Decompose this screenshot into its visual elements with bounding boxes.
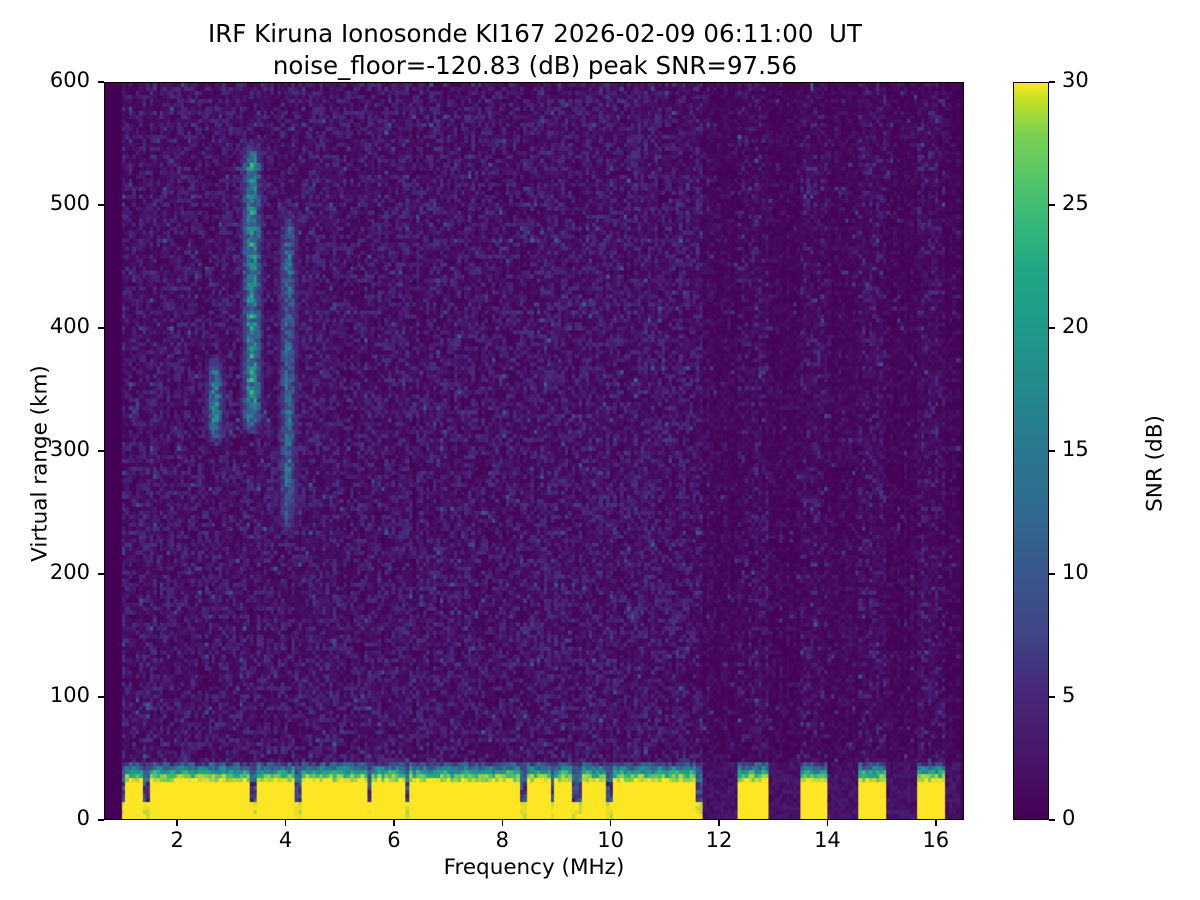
y-tick-label: 500: [0, 191, 90, 215]
y-tick-label: 600: [0, 68, 90, 92]
colorbar-tick-mark: [1049, 696, 1055, 697]
x-tick-mark: [176, 820, 177, 826]
figure-title: IRF Kiruna Ionosonde KI167 2026-02-09 06…: [0, 18, 1070, 82]
colorbar-tick-label: 25: [1062, 191, 1089, 215]
y-tick-mark: [98, 81, 104, 82]
colorbar-tick-label: 15: [1062, 437, 1089, 461]
y-tick-label: 300: [0, 437, 90, 461]
x-tick-mark: [827, 820, 828, 826]
x-tick-label: 6: [354, 828, 434, 852]
colorbar-tick-mark: [1049, 573, 1055, 574]
x-axis-label: Frequency (MHz): [104, 855, 964, 880]
x-tick-mark: [935, 820, 936, 826]
colorbar-tick-label: 30: [1062, 68, 1089, 92]
x-tick-label: 16: [896, 828, 976, 852]
colorbar-tick-label: 20: [1062, 314, 1089, 338]
x-tick-mark: [285, 820, 286, 826]
y-tick-label: 100: [0, 683, 90, 707]
colorbar-tick-mark: [1049, 81, 1055, 82]
ionogram-figure: IRF Kiruna Ionosonde KI167 2026-02-09 06…: [0, 0, 1200, 900]
colorbar-tick-label: 0: [1062, 806, 1075, 830]
x-tick-mark: [502, 820, 503, 826]
ionogram-heatmap: [105, 83, 963, 819]
y-tick-mark: [98, 327, 104, 328]
y-tick-label: 400: [0, 314, 90, 338]
title-line-2: noise_floor=-120.83 (dB) peak SNR=97.56: [0, 50, 1070, 82]
x-tick-label: 8: [462, 828, 542, 852]
y-tick-label: 0: [0, 806, 90, 830]
colorbar-gradient: [1013, 82, 1049, 820]
x-tick-mark: [393, 820, 394, 826]
y-tick-mark: [98, 204, 104, 205]
x-tick-mark: [718, 820, 719, 826]
y-tick-mark: [98, 450, 104, 451]
x-tick-label: 12: [679, 828, 759, 852]
plot-area: [104, 82, 964, 820]
x-tick-label: 14: [787, 828, 867, 852]
colorbar-tick-mark: [1049, 819, 1055, 820]
y-tick-label: 200: [0, 560, 90, 584]
x-tick-label: 2: [137, 828, 217, 852]
x-tick-label: 10: [571, 828, 651, 852]
colorbar-tick-mark: [1049, 450, 1055, 451]
colorbar-tick-label: 10: [1062, 560, 1089, 584]
y-tick-mark: [98, 573, 104, 574]
title-line-1: IRF Kiruna Ionosonde KI167 2026-02-09 06…: [0, 18, 1070, 50]
colorbar-label: SNR (dB): [1143, 264, 1168, 664]
colorbar-tick-mark: [1049, 204, 1055, 205]
colorbar-tick-mark: [1049, 327, 1055, 328]
x-tick-mark: [610, 820, 611, 826]
colorbar-tick-label: 5: [1062, 683, 1075, 707]
y-tick-mark: [98, 696, 104, 697]
y-tick-mark: [98, 819, 104, 820]
x-tick-label: 4: [246, 828, 326, 852]
